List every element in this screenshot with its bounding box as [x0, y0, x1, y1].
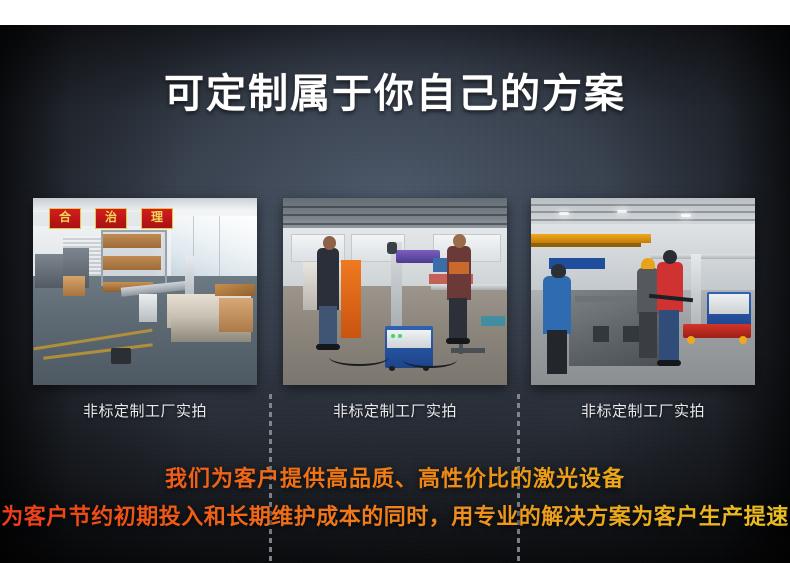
p3-machine-panel	[709, 294, 749, 314]
slogan-line-2: 为客户节约初期投入和长期维护成本的同时，用专业的解决方案为客户生产提速	[0, 503, 790, 533]
p2-worker-left-legs	[319, 306, 337, 346]
p3-ceiling-lamp	[681, 214, 691, 217]
p3-worker-red-legs	[659, 310, 679, 362]
p1-window-mullion	[219, 216, 220, 278]
p3-worker-red-body	[657, 262, 683, 312]
p3-worker-red-shoes	[657, 360, 681, 366]
p1-floor-crate	[111, 348, 131, 364]
p2-floor-cable	[329, 348, 389, 366]
p3-ceiling-lamp	[617, 210, 627, 213]
slogan-line-1: 我们为客户提供高品质、高性价比的激光设备	[0, 466, 790, 494]
p3-worker-blue-body	[543, 276, 571, 334]
photo-caption-3: 非标定制工厂实拍	[531, 400, 755, 422]
p3-worker-helmet-legs	[639, 312, 657, 358]
p3-trolley-wheel	[687, 336, 695, 344]
photo-panel-1[interactable]: 合 治 理	[33, 198, 257, 385]
photo-caption-1: 非标定制工厂实拍	[33, 400, 257, 422]
p3-ceiling-lamp	[559, 212, 569, 215]
promo-banner: 可定制属于你自己的方案 合 治 理	[0, 0, 790, 563]
p1-bright-window	[171, 216, 257, 278]
p3-worker-yellow-helmet	[641, 258, 655, 269]
p2-worker-left-head	[323, 236, 336, 250]
p2-floor-cable	[403, 352, 457, 368]
photo-panel-3[interactable]	[531, 198, 755, 385]
p2-worker-left-body	[317, 248, 339, 310]
p3-worker-blue-cap	[551, 264, 566, 278]
p3-roof-truss	[531, 219, 755, 221]
p1-carton-stack	[103, 234, 161, 248]
factory-photo-laser-marking	[283, 198, 507, 385]
p3-crane-rail	[531, 243, 641, 247]
p1-board-stack	[215, 284, 255, 296]
photo-gallery: 合 治 理	[0, 198, 790, 388]
p2-worker-right-stripe	[449, 262, 469, 274]
p3-worker-red-head	[663, 250, 677, 264]
factory-photo-warehouse: 合 治 理	[33, 198, 257, 385]
p2-worker-left-shoes	[316, 344, 340, 350]
p2-caster	[389, 366, 395, 371]
p2-worker-right-head	[453, 234, 466, 248]
photo-panel-2[interactable]	[283, 198, 507, 385]
p1-white-post	[185, 256, 194, 298]
p1-red-banner-1: 合	[49, 208, 81, 229]
p2-orange-machine-column	[341, 260, 361, 338]
p2-table-foot	[451, 348, 485, 353]
top-white-strip	[0, 0, 790, 25]
p3-roof-truss	[531, 204, 755, 206]
p3-casting-hole	[593, 326, 609, 342]
p3-overhead-crane-beam	[531, 234, 651, 243]
p2-purlin	[283, 214, 507, 216]
factory-photo-casting-hall	[531, 198, 755, 385]
p1-carton	[63, 276, 85, 296]
p2-indicator-led	[391, 334, 395, 338]
p2-purlin	[283, 223, 507, 225]
p2-worker-right-shoes	[446, 338, 470, 344]
p1-carton-stack	[103, 256, 161, 270]
p1-large-carton	[219, 298, 253, 332]
p1-red-banner-3: 理	[141, 208, 173, 229]
p1-control-box	[139, 294, 157, 322]
p2-laser-top-box	[387, 242, 397, 254]
p3-casting-hole	[623, 326, 639, 342]
page-title: 可定制属于你自己的方案	[0, 68, 790, 120]
p1-red-banner-2: 治	[95, 208, 127, 229]
p2-laser-source-face	[387, 330, 431, 348]
p3-worker-blue-legs	[547, 330, 567, 374]
photo-caption-2: 非标定制工厂实拍	[283, 400, 507, 422]
p3-vertical-mast	[691, 254, 701, 330]
p3-trolley-wheel	[739, 336, 747, 344]
p2-blue-pallet	[481, 316, 505, 326]
p2-indicator-led	[398, 334, 402, 338]
p2-purlin	[283, 206, 507, 208]
p2-worker-right-legs	[449, 298, 467, 340]
p3-worker-helmet-body	[637, 268, 659, 314]
